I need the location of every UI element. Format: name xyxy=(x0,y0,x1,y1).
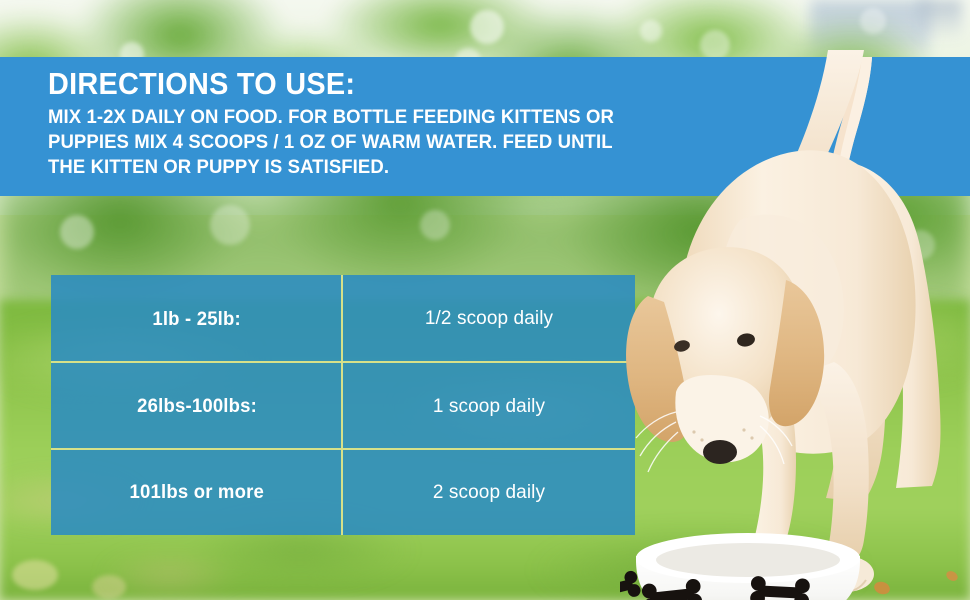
feeding-directions-graphic: DIRECTIONS TO USE: MIX 1-2X DAILY ON FOO… xyxy=(0,0,970,600)
bokeh-light xyxy=(92,575,126,599)
bokeh-light xyxy=(420,210,450,240)
table-cell-weight: 1lb - 25lb: xyxy=(51,275,343,363)
dose-label: 1 scoop daily xyxy=(433,396,545,418)
table-cell-dose: 1/2 scoop daily xyxy=(343,275,635,363)
bokeh-light xyxy=(12,560,58,590)
dose-label: 2 scoop daily xyxy=(433,482,545,504)
bokeh-light xyxy=(470,10,504,44)
dose-label: 1/2 scoop daily xyxy=(425,308,553,330)
bokeh-light xyxy=(640,20,662,42)
table-cell-weight: 101lbs or more xyxy=(51,450,343,535)
weight-label: 101lbs or more xyxy=(130,481,264,504)
weight-label: 1lb - 25lb: xyxy=(153,308,242,331)
table-cell-dose: 2 scoop daily xyxy=(343,450,635,535)
directions-line: THE KITTEN OR PUPPY IS SATISFIED. xyxy=(48,155,713,180)
dosage-table: 1lb - 25lb: 1/2 scoop daily 26lbs-100lbs… xyxy=(51,275,635,535)
table-cell-weight: 26lbs-100lbs: xyxy=(51,363,343,450)
bokeh-light xyxy=(210,205,250,245)
weight-label: 26lbs-100lbs: xyxy=(137,395,257,418)
puppy-nose xyxy=(703,440,737,464)
bokeh-light xyxy=(860,8,886,34)
directions-text: MIX 1-2X DAILY ON FOOD. FOR BOTTLE FEEDI… xyxy=(48,105,713,179)
puppy-photo xyxy=(620,40,970,600)
table-cell-dose: 1 scoop daily xyxy=(343,363,635,450)
dog-bowl xyxy=(620,533,860,600)
directions-line: MIX 1-2X DAILY ON FOOD. FOR BOTTLE FEEDI… xyxy=(48,105,713,130)
bokeh-light xyxy=(60,215,94,249)
directions-line: PUPPIES MIX 4 SCOOPS / 1 OZ OF WARM WATE… xyxy=(48,130,713,155)
